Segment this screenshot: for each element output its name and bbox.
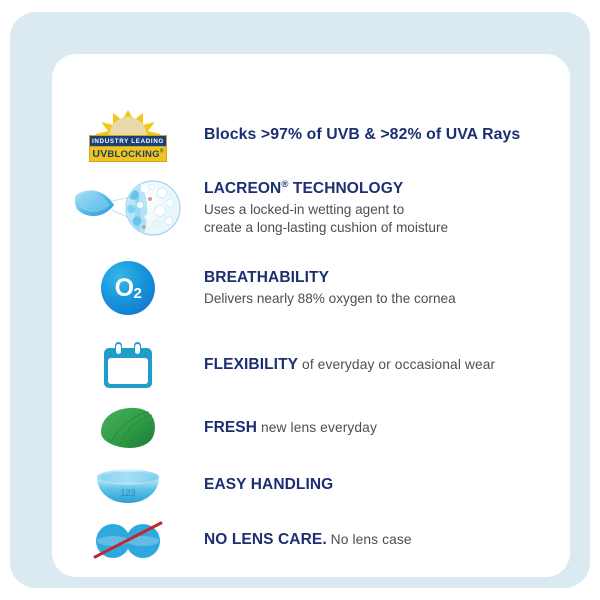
text-cell-flexibility: FLEXIBILITY of everyday or occasional we… — [204, 355, 570, 374]
heading-flexibility-bold: FLEXIBILITY — [204, 356, 298, 373]
leaf-icon — [97, 406, 159, 450]
heading-breathability: BREATHABILITY — [204, 268, 560, 287]
lens-number-label: 123 — [120, 488, 135, 498]
uv-badge-main-text: UVBLOCKING® — [92, 148, 163, 160]
heading-lacreon: LACREON® TECHNOLOGY — [204, 179, 560, 198]
oxygen-label-main: O — [115, 274, 134, 303]
no-lens-case-icon — [91, 519, 165, 561]
heading-lacreon-rest: TECHNOLOGY — [289, 180, 404, 197]
icon-cell-easy-handling: 123 — [52, 454, 204, 516]
text-cell-fresh: FRESH new lens everyday — [204, 418, 570, 437]
sub-breathability: Delivers nearly 88% oxygen to the cornea — [204, 290, 560, 308]
sub-lacreon: Uses a locked-in wetting agent to create… — [204, 201, 560, 237]
heading-no-lens-care: NO LENS CARE. No lens case — [204, 530, 560, 549]
heading-lacreon-mark: ® — [281, 179, 288, 190]
contact-lens-bowl-icon: 123 — [95, 465, 161, 505]
calendar-ring-inner-left — [116, 344, 121, 354]
sub-lacreon-line-2: create a long-lasting cushion of moistur… — [204, 219, 560, 237]
heading-no-lens-care-bold: NO LENS CARE. — [204, 531, 327, 548]
text-cell-lacreon: LACREON® TECHNOLOGY Uses a locked-in wet… — [204, 179, 570, 238]
text-cell-easy-handling: EASY HANDLING — [204, 475, 570, 494]
heading-flexibility-rest: of everyday or occasional wear — [298, 357, 495, 372]
feature-row-uv-blocking: INDUSTRY LEADING UVBLOCKING® Blocks >97%… — [52, 104, 570, 166]
heading-easy-handling: EASY HANDLING — [204, 475, 560, 494]
text-cell-breathability: BREATHABILITY Delivers nearly 88% oxygen… — [204, 268, 570, 308]
heading-easy-handling-bold: EASY HANDLING — [204, 476, 333, 493]
heading-no-lens-care-rest: No lens case — [327, 532, 412, 547]
feature-row-breathability: O2 BREATHABILITY Delivers nearly 88% oxy… — [52, 257, 570, 319]
feature-row-flexibility: FLEXIBILITY of everyday or occasional we… — [52, 334, 570, 396]
oxygen-label-sub: 2 — [134, 285, 142, 302]
heading-lacreon-main: LACREON — [204, 180, 281, 197]
heading-uv-blocking: Blocks >97% of UVB & >82% of UVA Rays — [204, 125, 560, 145]
feature-row-fresh: FRESH new lens everyday — [52, 397, 570, 459]
outer-panel: INDUSTRY LEADING UVBLOCKING® Blocks >97%… — [10, 12, 590, 588]
heading-flexibility: FLEXIBILITY of everyday or occasional we… — [204, 355, 560, 374]
oxygen-bubble-icon: O2 — [101, 261, 155, 315]
infographic-page: INDUSTRY LEADING UVBLOCKING® Blocks >97%… — [0, 0, 600, 600]
icon-cell-breathability: O2 — [52, 257, 204, 319]
icon-cell-fresh — [52, 397, 204, 459]
calendar-ring-inner-right — [135, 344, 140, 354]
text-cell-uv: Blocks >97% of UVB & >82% of UVA Rays — [204, 125, 570, 145]
uv-badge-main-rest: BLOCKING — [107, 149, 159, 160]
calendar-icon — [104, 342, 152, 388]
icon-cell-lacreon — [52, 177, 204, 239]
calendar-page — [108, 358, 148, 384]
uv-badge-main-bold: UV — [92, 148, 107, 160]
uv-badge-main-bar: UVBLOCKING® — [89, 147, 167, 162]
sub-lacreon-line-1: Uses a locked-in wetting agent to — [204, 201, 560, 219]
icon-cell-uv: INDUSTRY LEADING UVBLOCKING® — [52, 104, 204, 166]
feature-card: INDUSTRY LEADING UVBLOCKING® Blocks >97%… — [52, 54, 570, 577]
heading-fresh: FRESH new lens everyday — [204, 418, 560, 437]
uv-badge-registered-mark: ® — [160, 149, 164, 155]
heading-fresh-rest: new lens everyday — [257, 420, 377, 435]
heading-fresh-bold: FRESH — [204, 419, 257, 436]
feature-row-no-lens-care: NO LENS CARE. No lens case — [52, 509, 570, 571]
icon-cell-no-lens-care — [52, 509, 204, 571]
uv-blocking-badge-icon: INDUSTRY LEADING UVBLOCKING® — [89, 107, 167, 163]
text-cell-no-lens-care: NO LENS CARE. No lens case — [204, 530, 570, 549]
feature-row-lacreon: LACREON® TECHNOLOGY Uses a locked-in wet… — [52, 177, 570, 239]
feature-row-easy-handling: 123 EASY HANDLING — [52, 454, 570, 516]
lens-magnifier-icon — [74, 179, 182, 237]
uv-badge-top-text: INDUSTRY LEADING — [92, 138, 164, 145]
uv-badge-top-bar: INDUSTRY LEADING — [89, 135, 167, 147]
icon-cell-flexibility — [52, 334, 204, 396]
